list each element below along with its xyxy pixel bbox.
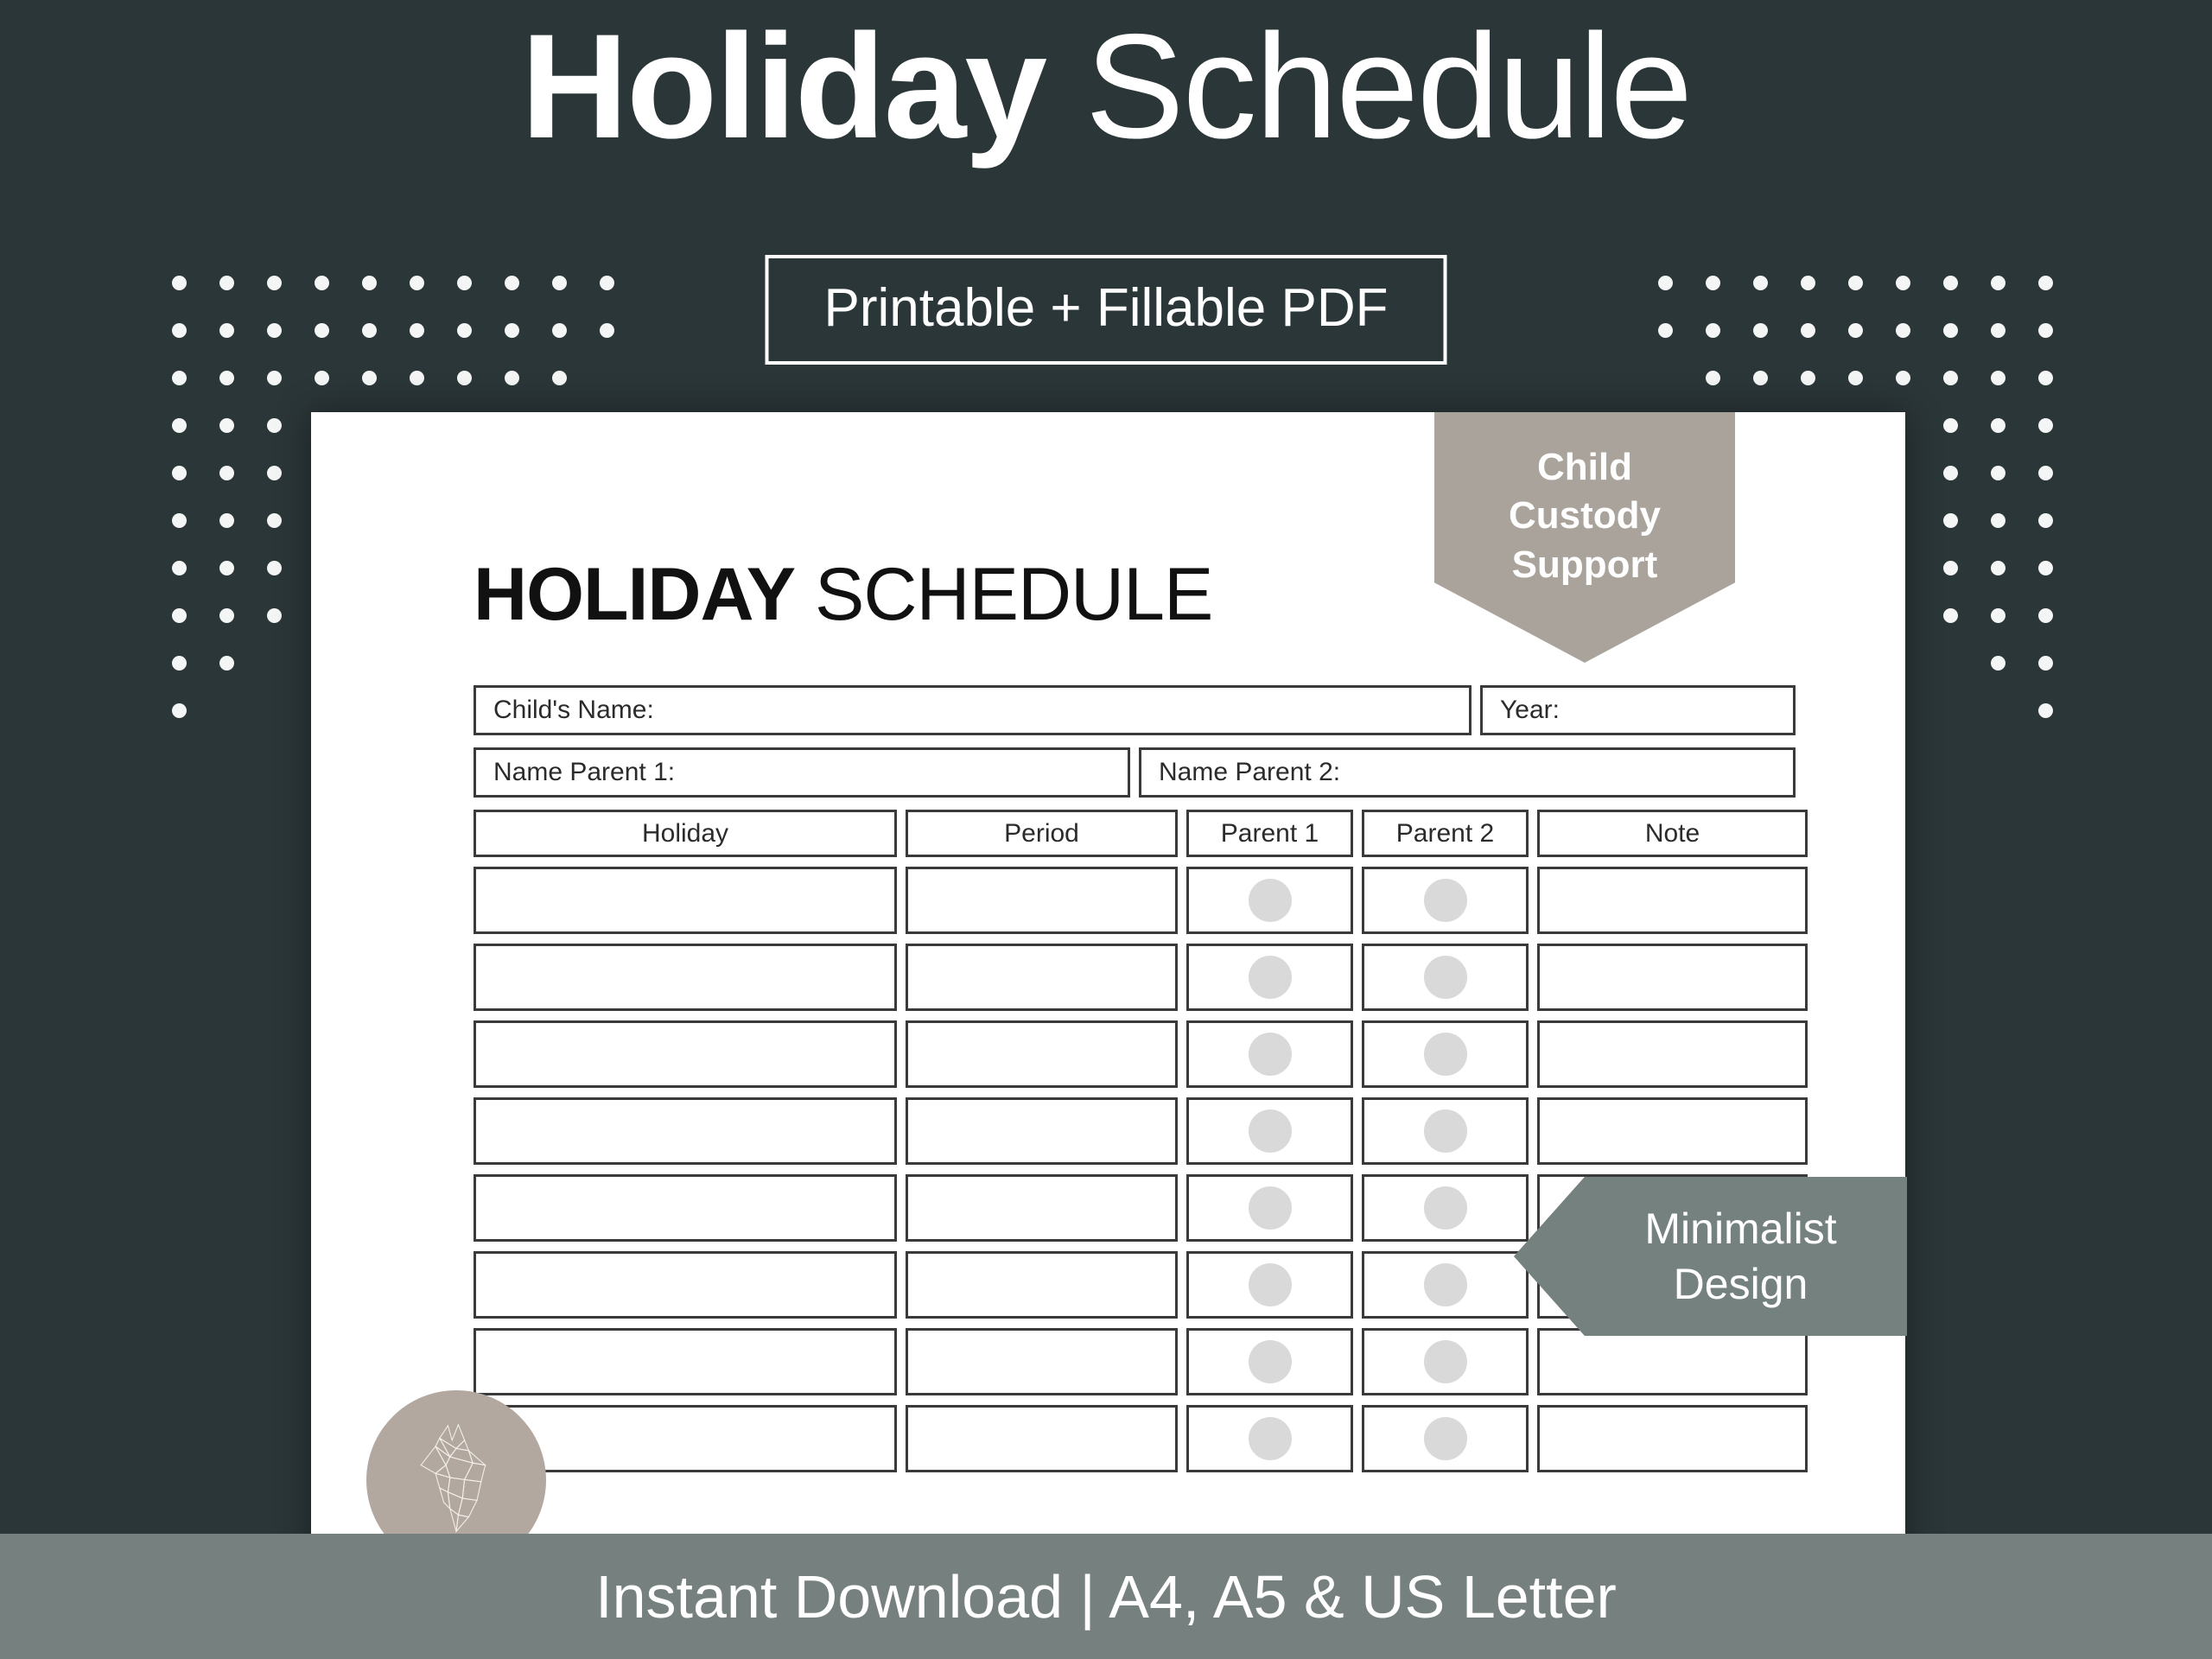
decor-dot — [1943, 466, 1958, 480]
table-row — [474, 1020, 1808, 1088]
decor-dot — [1896, 323, 1910, 338]
dot-cell — [1974, 592, 2022, 639]
decor-dot — [362, 323, 377, 338]
decor-dot — [2038, 513, 2053, 528]
radio-parent2-row-7[interactable] — [1362, 1328, 1529, 1395]
decor-dot — [1991, 371, 2005, 385]
table-row — [474, 1097, 1808, 1165]
decor-dot — [172, 466, 187, 480]
decor-dot — [2038, 608, 2053, 623]
cell-holiday-row-5[interactable] — [474, 1174, 897, 1242]
decor-dot — [1848, 323, 1863, 338]
decor-dot — [600, 323, 614, 338]
dot-cell — [1689, 259, 1737, 307]
dot-cell — [156, 449, 203, 497]
dot-cell — [1784, 354, 1832, 402]
decor-dot — [1658, 323, 1673, 338]
dot-row — [1642, 259, 2069, 307]
decor-dot — [552, 323, 567, 338]
decor-dot — [1896, 276, 1910, 290]
dot-cell — [1974, 259, 2022, 307]
decor-dot — [1753, 276, 1768, 290]
decor-dot — [457, 323, 472, 338]
dot-cell — [298, 307, 346, 354]
cell-period-row-3[interactable] — [906, 1020, 1178, 1088]
decor-dot — [172, 513, 187, 528]
radio-circle-icon[interactable] — [1424, 1263, 1467, 1306]
dot-cell — [2022, 449, 2069, 497]
decor-dot — [1991, 323, 2005, 338]
dot-cell — [1689, 307, 1737, 354]
radio-parent2-row-8[interactable] — [1362, 1405, 1529, 1472]
decor-dot — [552, 371, 567, 385]
dot-cell — [251, 307, 298, 354]
subtitle-badge: Printable + Fillable PDF — [766, 255, 1447, 365]
decor-dot — [172, 323, 187, 338]
decor-dot — [1753, 323, 1768, 338]
decor-dot — [219, 608, 234, 623]
year-field[interactable]: Year: — [1480, 685, 1796, 735]
radio-parent1-row-6[interactable] — [1186, 1251, 1353, 1319]
radio-circle-icon[interactable] — [1249, 1033, 1292, 1076]
decor-dot — [219, 371, 234, 385]
decor-dot — [219, 656, 234, 671]
form-row-parents: Name Parent 1: Name Parent 2: — [474, 747, 1796, 798]
decor-dot — [1943, 513, 1958, 528]
decor-dot — [219, 466, 234, 480]
dot-cell — [1927, 449, 1974, 497]
table-header-row: HolidayPeriodParent 1Parent 2Note — [474, 810, 1808, 857]
decor-dot — [315, 371, 329, 385]
column-header-period: Period — [906, 810, 1178, 857]
decor-dot — [219, 276, 234, 290]
decor-dot — [219, 561, 234, 575]
table-row — [474, 1328, 1808, 1395]
decor-dot — [172, 703, 187, 718]
cell-period-row-5[interactable] — [906, 1174, 1178, 1242]
decor-dot — [219, 513, 234, 528]
radio-parent1-row-5[interactable] — [1186, 1174, 1353, 1242]
decor-dot — [172, 656, 187, 671]
decor-dot — [267, 561, 282, 575]
decor-dot — [172, 276, 187, 290]
decor-dot — [2038, 656, 2053, 671]
dot-cell — [251, 497, 298, 544]
decor-dot — [1991, 608, 2005, 623]
dot-cell — [251, 449, 298, 497]
dot-cell — [2022, 592, 2069, 639]
dot-cell — [203, 354, 251, 402]
dot-row — [156, 259, 631, 307]
decor-dot — [219, 323, 234, 338]
decor-dot — [315, 276, 329, 290]
decor-dot — [267, 608, 282, 623]
dot-cell — [203, 497, 251, 544]
page-title: Holiday Schedule — [0, 12, 2212, 161]
footer-text: Instant Download | A4, A5 & US Letter — [595, 1562, 1617, 1631]
page-title-bold: Holiday — [521, 3, 1046, 169]
document-title: HOLIDAY SCHEDULE — [474, 557, 1212, 632]
cell-period-row-1[interactable] — [906, 867, 1178, 934]
radio-circle-icon[interactable] — [1249, 1109, 1292, 1153]
dot-row — [156, 354, 631, 402]
radio-parent2-row-1[interactable] — [1362, 867, 1529, 934]
dot-cell — [1927, 639, 1974, 687]
decor-dot — [219, 418, 234, 433]
cell-holiday-row-7[interactable] — [474, 1328, 897, 1395]
radio-parent1-row-3[interactable] — [1186, 1020, 1353, 1088]
dot-cell — [536, 259, 583, 307]
radio-circle-icon[interactable] — [1249, 879, 1292, 922]
decor-dot — [1896, 371, 1910, 385]
decor-dot — [1991, 656, 2005, 671]
column-header-note: Note — [1537, 810, 1808, 857]
dot-cell — [1974, 544, 2022, 592]
dot-cell — [2022, 354, 2069, 402]
radio-parent2-row-4[interactable] — [1362, 1097, 1529, 1165]
dot-cell — [1832, 307, 1879, 354]
dot-cell — [1974, 402, 2022, 449]
decor-dot — [1848, 276, 1863, 290]
decor-dot — [505, 276, 519, 290]
child-name-label: Child's Name: — [493, 696, 654, 725]
cell-period-row-8[interactable] — [906, 1405, 1178, 1472]
dot-cell — [1974, 449, 2022, 497]
cell-period-row-2[interactable] — [906, 944, 1178, 1011]
dot-cell — [2022, 259, 2069, 307]
radio-parent1-row-4[interactable] — [1186, 1097, 1353, 1165]
dot-cell — [156, 592, 203, 639]
dot-cell — [251, 544, 298, 592]
radio-circle-icon[interactable] — [1424, 1340, 1467, 1383]
decor-dot — [1753, 371, 1768, 385]
dot-cell — [1974, 307, 2022, 354]
dot-cell — [156, 544, 203, 592]
decor-dot — [315, 323, 329, 338]
dot-cell — [251, 259, 298, 307]
decor-dot — [1943, 323, 1958, 338]
decor-dot — [1943, 418, 1958, 433]
dot-cell — [1927, 497, 1974, 544]
radio-circle-icon[interactable] — [1249, 1186, 1292, 1230]
decor-dot — [410, 371, 424, 385]
decor-dot — [2038, 466, 2053, 480]
dot-cell — [156, 259, 203, 307]
form-row-identity: Child's Name: Year: — [474, 685, 1796, 735]
decor-dot — [267, 323, 282, 338]
radio-parent1-row-8[interactable] — [1186, 1405, 1353, 1472]
cell-note-row-4[interactable] — [1537, 1097, 1808, 1165]
dot-cell — [156, 497, 203, 544]
arrow-line-2: Design — [1644, 1256, 1836, 1312]
dot-cell — [1879, 307, 1927, 354]
parent1-name-field[interactable]: Name Parent 1: — [474, 747, 1130, 798]
dot-cell — [203, 259, 251, 307]
dot-cell — [1927, 354, 1974, 402]
decor-dot — [552, 276, 567, 290]
footer-bar: Instant Download | A4, A5 & US Letter — [0, 1534, 2212, 1659]
dot-cell — [1927, 307, 1974, 354]
dot-cell — [536, 307, 583, 354]
dot-cell — [2022, 307, 2069, 354]
dot-cell — [1927, 544, 1974, 592]
radio-parent1-row-7[interactable] — [1186, 1328, 1353, 1395]
decor-dot — [1991, 418, 2005, 433]
decor-dot — [267, 513, 282, 528]
dot-cell — [251, 354, 298, 402]
table-row — [474, 867, 1808, 934]
radio-circle-icon[interactable] — [1424, 1109, 1467, 1153]
radio-circle-icon[interactable] — [1424, 1186, 1467, 1230]
decor-dot — [1801, 371, 1815, 385]
dot-cell — [203, 402, 251, 449]
radio-circle-icon[interactable] — [1424, 879, 1467, 922]
dot-cell — [1689, 354, 1737, 402]
cell-holiday-row-3[interactable] — [474, 1020, 897, 1088]
ribbon-line-1: Child — [1434, 443, 1735, 492]
column-header-holiday: Holiday — [474, 810, 897, 857]
dot-cell — [1642, 307, 1689, 354]
decor-dot — [267, 466, 282, 480]
decor-dot — [172, 418, 187, 433]
table-row — [474, 1405, 1808, 1472]
dot-cell — [1927, 592, 1974, 639]
radio-parent2-row-5[interactable] — [1362, 1174, 1529, 1242]
table-row — [474, 944, 1808, 1011]
dot-cell — [251, 402, 298, 449]
radio-parent1-row-1[interactable] — [1186, 867, 1353, 934]
year-label: Year: — [1500, 696, 1560, 725]
dot-cell — [1974, 639, 2022, 687]
dot-cell — [298, 354, 346, 402]
decor-dot — [1706, 276, 1720, 290]
dot-cell — [488, 259, 536, 307]
parent1-name-label: Name Parent 1: — [493, 758, 675, 787]
dot-cell — [156, 402, 203, 449]
dot-cell — [2022, 639, 2069, 687]
cell-note-row-1[interactable] — [1537, 867, 1808, 934]
cell-note-row-8[interactable] — [1537, 1405, 1808, 1472]
decor-dot — [410, 323, 424, 338]
dot-cell — [346, 259, 393, 307]
cell-period-row-6[interactable] — [906, 1251, 1178, 1319]
cell-holiday-row-6[interactable] — [474, 1251, 897, 1319]
radio-circle-icon[interactable] — [1249, 1340, 1292, 1383]
dot-cell — [298, 259, 346, 307]
dot-cell — [441, 307, 488, 354]
dot-cell — [536, 354, 583, 402]
decor-dot — [410, 276, 424, 290]
dot-cell — [156, 639, 203, 687]
decor-dot — [172, 371, 187, 385]
dot-cell — [1879, 354, 1927, 402]
dot-cell — [1784, 259, 1832, 307]
decor-dot — [172, 608, 187, 623]
decor-dot — [1848, 371, 1863, 385]
decor-dot — [1991, 276, 2005, 290]
decor-dot — [1801, 323, 1815, 338]
page-title-light: Schedule — [1046, 3, 1691, 169]
decor-dot — [2038, 276, 2053, 290]
radio-circle-icon[interactable] — [1249, 956, 1292, 999]
decor-dot — [600, 276, 614, 290]
dot-cell — [583, 259, 631, 307]
dot-cell — [488, 354, 536, 402]
dot-cell — [2022, 687, 2069, 734]
decor-dot — [2038, 323, 2053, 338]
dot-cell — [393, 259, 441, 307]
decor-dot — [362, 276, 377, 290]
dot-cell — [203, 592, 251, 639]
document-title-light: SCHEDULE — [795, 553, 1212, 636]
radio-circle-icon[interactable] — [1424, 1033, 1467, 1076]
radio-circle-icon[interactable] — [1249, 1263, 1292, 1306]
dot-cell — [1927, 687, 1974, 734]
cell-note-row-7[interactable] — [1537, 1328, 1808, 1395]
cell-holiday-row-2[interactable] — [474, 944, 897, 1011]
decor-dot — [267, 276, 282, 290]
dot-cell — [346, 307, 393, 354]
dot-cell — [583, 307, 631, 354]
child-name-field[interactable]: Child's Name: — [474, 685, 1471, 735]
decor-dot — [267, 418, 282, 433]
dot-cell — [203, 449, 251, 497]
dot-row — [1642, 307, 2069, 354]
dot-cell — [393, 307, 441, 354]
decor-dot — [1991, 561, 2005, 575]
decor-dot — [172, 561, 187, 575]
parent2-name-label: Name Parent 2: — [1159, 758, 1340, 787]
dot-cell — [1927, 259, 1974, 307]
dot-cell — [156, 687, 203, 734]
dot-cell — [156, 307, 203, 354]
radio-parent2-row-6[interactable] — [1362, 1251, 1529, 1319]
cell-period-row-4[interactable] — [906, 1097, 1178, 1165]
parent2-name-field[interactable]: Name Parent 2: — [1139, 747, 1796, 798]
dot-cell — [1974, 354, 2022, 402]
dot-cell — [203, 544, 251, 592]
decor-dot — [505, 323, 519, 338]
decor-dot — [267, 371, 282, 385]
subtitle-text: Printable + Fillable PDF — [824, 278, 1389, 338]
decor-dot — [1943, 561, 1958, 575]
document-title-bold: HOLIDAY — [474, 553, 795, 636]
dot-row — [1642, 354, 2069, 402]
decor-dot — [1658, 276, 1673, 290]
radio-circle-icon[interactable] — [1249, 1417, 1292, 1460]
dot-cell — [2022, 544, 2069, 592]
dot-cell — [1974, 687, 2022, 734]
dot-cell — [251, 592, 298, 639]
dot-cell — [203, 307, 251, 354]
cell-holiday-row-1[interactable] — [474, 867, 897, 934]
decor-dot — [457, 276, 472, 290]
decor-dot — [457, 371, 472, 385]
dot-cell — [1737, 307, 1784, 354]
dot-cell — [1642, 354, 1689, 402]
decor-dot — [1943, 371, 1958, 385]
dot-cell — [203, 639, 251, 687]
decor-dot — [1991, 513, 2005, 528]
dot-cell — [2022, 402, 2069, 449]
decor-dot — [2038, 561, 2053, 575]
dot-cell — [441, 259, 488, 307]
cell-holiday-row-4[interactable] — [474, 1097, 897, 1165]
dot-cell — [1927, 402, 1974, 449]
radio-parent1-row-2[interactable] — [1186, 944, 1353, 1011]
cell-note-row-3[interactable] — [1537, 1020, 1808, 1088]
dot-cell — [1879, 259, 1927, 307]
dot-cell — [1642, 259, 1689, 307]
dot-cell — [1784, 307, 1832, 354]
decor-dot — [1801, 276, 1815, 290]
dot-row — [156, 307, 631, 354]
decor-dot — [1943, 608, 1958, 623]
cell-note-row-2[interactable] — [1537, 944, 1808, 1011]
ribbon-line-3: Support — [1434, 541, 1735, 589]
cell-period-row-7[interactable] — [906, 1328, 1178, 1395]
dot-cell — [1974, 497, 2022, 544]
dot-cell — [1737, 354, 1784, 402]
column-header-parent-2: Parent 2 — [1362, 810, 1529, 857]
radio-parent2-row-2[interactable] — [1362, 944, 1529, 1011]
dot-cell — [346, 354, 393, 402]
dot-cell — [1832, 354, 1879, 402]
decor-dot — [1991, 466, 2005, 480]
column-header-parent-1: Parent 1 — [1186, 810, 1353, 857]
dot-cell — [1832, 259, 1879, 307]
dot-cell — [1737, 259, 1784, 307]
radio-circle-icon[interactable] — [1424, 1417, 1467, 1460]
arrow-line-1: Minimalist — [1644, 1201, 1836, 1256]
radio-parent2-row-3[interactable] — [1362, 1020, 1529, 1088]
dot-cell — [156, 354, 203, 402]
decor-dot — [505, 371, 519, 385]
decor-dot — [362, 371, 377, 385]
decor-dot — [2038, 418, 2053, 433]
decor-dot — [1943, 276, 1958, 290]
decor-dot — [2038, 371, 2053, 385]
radio-circle-icon[interactable] — [1424, 956, 1467, 999]
minimalist-design-badge: Minimalist Design — [1514, 1177, 1907, 1336]
dot-cell — [393, 354, 441, 402]
dot-cell — [441, 354, 488, 402]
dot-cell — [488, 307, 536, 354]
decor-dot — [1706, 323, 1720, 338]
dot-cell — [2022, 497, 2069, 544]
ribbon-line-2: Custody — [1434, 492, 1735, 540]
decor-dot — [2038, 703, 2053, 718]
schedule-table: HolidayPeriodParent 1Parent 2Note — [474, 810, 1808, 1482]
geometric-wolf-head-icon — [404, 1415, 508, 1545]
decor-dot — [1706, 371, 1720, 385]
